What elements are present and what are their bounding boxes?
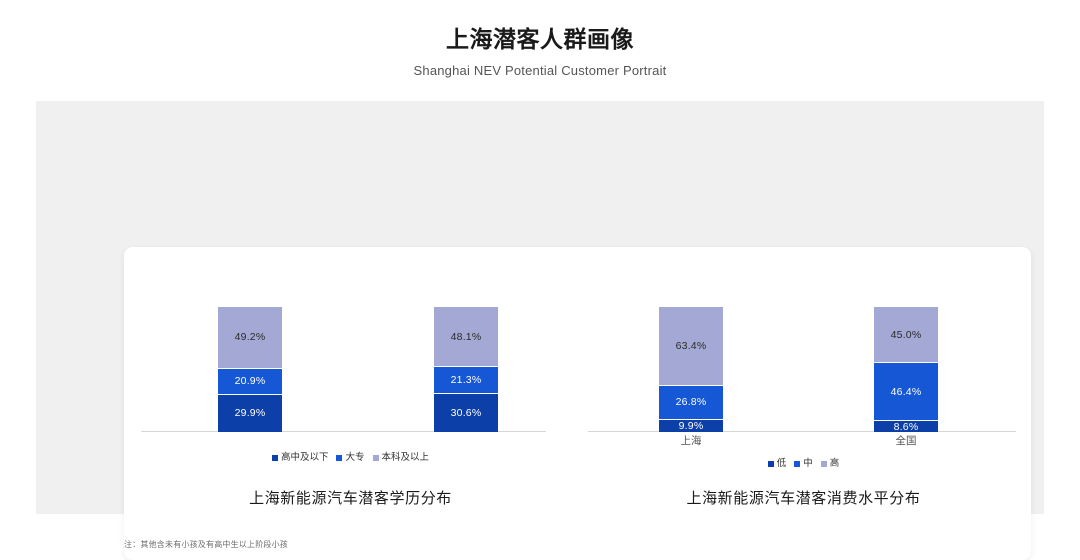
x-tick-label: 上海 — [646, 433, 736, 448]
outer-panel: 49.2% 20.9% 29.9% 48.1% 21.3% 30.6% 高中及以… — [36, 101, 1044, 514]
legend-item[interactable]: 高中及以下 — [272, 453, 329, 463]
bar-segment-mid: 26.8% — [659, 386, 723, 419]
legend-label: 低 — [777, 458, 787, 469]
legend-item[interactable]: 高 — [821, 459, 840, 469]
legend-label: 大专 — [345, 452, 364, 463]
legend-swatch-icon — [336, 455, 342, 461]
bar-segment-high: 45.0% — [874, 307, 938, 363]
footnote: 注：其他含未有小孩及有高中生以上阶段小孩 — [124, 539, 288, 550]
legend-label: 高中及以下 — [281, 452, 329, 463]
page-header: 上海潜客人群画像 Shanghai NEV Potential Customer… — [0, 0, 1080, 78]
bar-column[interactable]: 48.1% 21.3% 30.6% — [434, 307, 498, 432]
bar-column[interactable]: 49.2% 20.9% 29.9% — [218, 307, 282, 432]
bar-segment-low: 8.6% — [874, 421, 938, 432]
chart-caption-education: 上海新能源汽车潜客学历分布 — [124, 487, 577, 508]
legend-label: 高 — [830, 458, 840, 469]
bar-segment-low: 30.6% — [434, 394, 498, 432]
legend-swatch-icon — [768, 461, 774, 467]
page-title: 上海潜客人群画像 — [0, 0, 1080, 54]
page-subtitle: Shanghai NEV Potential Customer Portrait — [0, 54, 1080, 78]
legend-item[interactable]: 本科及以上 — [373, 453, 430, 463]
x-axis-line — [588, 431, 1016, 432]
bar-segment-mid: 20.9% — [218, 369, 282, 395]
charts-card: 49.2% 20.9% 29.9% 48.1% 21.3% 30.6% 高中及以… — [124, 247, 1031, 560]
bar-segment-high: 49.2% — [218, 307, 282, 369]
bar-column[interactable]: 45.0% 46.4% 8.6% — [874, 307, 938, 432]
legend-swatch-icon — [794, 461, 800, 467]
legend-education: 高中及以下大专本科及以上 — [124, 453, 577, 463]
chart-education: 49.2% 20.9% 29.9% 48.1% 21.3% 30.6% 高中及以… — [124, 247, 577, 560]
legend-swatch-icon — [373, 455, 379, 461]
legend-label: 中 — [803, 458, 813, 469]
legend-label: 本科及以上 — [382, 452, 430, 463]
legend-consumption: 低中高 — [577, 459, 1030, 469]
legend-swatch-icon — [272, 455, 278, 461]
x-tick-label: 全国 — [861, 433, 951, 448]
legend-swatch-icon — [821, 461, 827, 467]
bar-segment-mid: 46.4% — [874, 363, 938, 421]
charts-row: 49.2% 20.9% 29.9% 48.1% 21.3% 30.6% 高中及以… — [124, 247, 1031, 560]
bar-segment-mid: 21.3% — [434, 367, 498, 394]
chart-caption-consumption: 上海新能源汽车潜客消费水平分布 — [577, 487, 1030, 508]
bar-column[interactable]: 63.4% 26.8% 9.9% — [659, 307, 723, 432]
bar-segment-high: 48.1% — [434, 307, 498, 367]
bar-segment-low: 29.9% — [218, 395, 282, 432]
legend-item[interactable]: 大专 — [336, 453, 364, 463]
bar-segment-low: 9.9% — [659, 420, 723, 432]
chart-consumption: 63.4% 26.8% 9.9% 上海 45.0% 46.4% 8.6% 全国 … — [577, 247, 1030, 560]
bar-segment-high: 63.4% — [659, 307, 723, 386]
legend-item[interactable]: 低 — [768, 459, 787, 469]
legend-item[interactable]: 中 — [794, 459, 813, 469]
plot-area-consumption: 63.4% 26.8% 9.9% 上海 45.0% 46.4% 8.6% 全国 — [577, 247, 1030, 442]
plot-area-education: 49.2% 20.9% 29.9% 48.1% 21.3% 30.6% — [124, 247, 577, 442]
